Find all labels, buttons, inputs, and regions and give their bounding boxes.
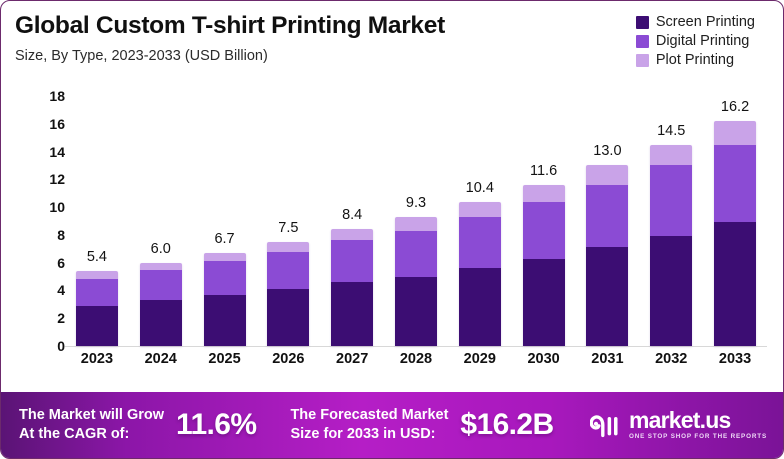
y-axis-tick: 0 [57,338,65,354]
legend-swatch-icon [636,54,649,67]
bar-segment[interactable] [650,165,692,236]
forecast-label: The Forecasted Market Size for 2033 in U… [290,406,448,443]
legend-label: Plot Printing [656,52,734,68]
bar-total-label: 6.7 [193,231,257,247]
y-axis-tick: 10 [49,199,65,215]
bar-stack[interactable] [140,263,182,346]
x-axis-tick: 2027 [320,351,384,379]
bar-total-label: 7.5 [256,220,320,236]
x-axis-tick: 2025 [193,351,257,379]
y-axis-tick: 8 [57,227,65,243]
bar-segment[interactable] [714,222,756,346]
bar-total-label: 5.4 [65,249,129,265]
bar-column[interactable]: 13.0 [576,96,640,346]
bar-segment[interactable] [395,277,437,346]
infographic-card: Global Custom T-shirt Printing Market Si… [0,0,784,459]
bar-segment[interactable] [523,259,565,347]
forecast-value: $16.2B [460,408,553,442]
bar-segment[interactable] [714,145,756,223]
x-axis-tick: 2033 [703,351,767,379]
cagr-label-line2: At the CAGR of: [19,425,164,444]
logo-name: market.us [629,409,767,432]
bar-segment[interactable] [76,306,118,346]
legend-label: Screen Printing [656,14,755,30]
y-axis-tick: 12 [49,171,65,187]
forecast-label-line2: Size for 2033 in USD: [290,425,448,444]
x-axis-tick: 2023 [65,351,129,379]
bar-total-label: 11.6 [512,163,576,179]
bar-total-label: 9.3 [384,195,448,211]
legend-item-plot-printing: Plot Printing [636,52,755,68]
bar-stack[interactable] [204,253,246,346]
bar-stack[interactable] [331,229,373,346]
cagr-label: The Market will Grow At the CAGR of: [19,406,164,443]
bar-segment[interactable] [76,271,118,279]
y-axis-tick: 14 [49,144,65,160]
bar-series-container: 5.46.06.77.58.49.310.411.613.014.516.2 [65,96,767,346]
bar-segment[interactable] [140,263,182,270]
bar-column[interactable]: 5.4 [65,96,129,346]
y-axis-tick: 4 [57,282,65,298]
bar-segment[interactable] [395,217,437,231]
bar-segment[interactable] [650,236,692,346]
legend-swatch-icon [636,16,649,29]
y-axis-tick: 18 [49,88,65,104]
y-axis-tick: 16 [49,116,65,132]
bar-segment[interactable] [395,231,437,277]
x-axis: 2023202420252026202720282029203020312032… [65,351,767,379]
bar-stack[interactable] [76,271,118,346]
x-axis-tick: 2030 [512,351,576,379]
legend-label: Digital Printing [656,33,750,49]
x-axis-tick: 2024 [129,351,193,379]
legend-item-digital-printing: Digital Printing [636,33,755,49]
x-axis-tick: 2029 [448,351,512,379]
forecast-label-line1: The Forecasted Market [290,406,448,425]
bar-segment[interactable] [140,300,182,346]
bar-stack[interactable] [395,217,437,346]
bar-column[interactable]: 8.4 [320,96,384,346]
bar-segment[interactable] [714,121,756,145]
bar-total-label: 8.4 [320,207,384,223]
x-axis-tick: 2031 [576,351,640,379]
x-axis-tick: 2026 [256,351,320,379]
bar-segment[interactable] [459,202,501,217]
bar-segment[interactable] [204,253,246,261]
bar-segment[interactable] [204,295,246,346]
cagr-value: 11.6% [176,408,256,442]
x-axis-tick: 2032 [639,351,703,379]
bar-segment[interactable] [267,289,309,346]
bar-segment[interactable] [459,217,501,268]
bar-segment[interactable] [650,145,692,166]
bar-segment[interactable] [586,185,628,248]
bar-stack[interactable] [586,165,628,346]
bar-segment[interactable] [204,261,246,294]
legend-swatch-icon [636,35,649,48]
logo-tagline: ONE STOP SHOP FOR THE REPORTS [629,434,767,440]
x-axis-tick: 2028 [384,351,448,379]
cagr-label-line1: The Market will Grow [19,406,164,425]
bar-segment[interactable] [523,185,565,202]
bar-segment[interactable] [459,268,501,346]
bar-total-label: 13.0 [576,143,640,159]
y-axis: 181614121086420 [25,96,65,351]
bar-column[interactable]: 16.2 [703,96,767,346]
bar-segment[interactable] [76,279,118,305]
market-us-logo-icon [590,412,622,438]
bar-total-label: 16.2 [703,99,767,115]
logo-wordmark: market.us ONE STOP SHOP FOR THE REPORTS [629,409,767,440]
bar-column[interactable]: 11.6 [512,96,576,346]
bar-column[interactable]: 14.5 [639,96,703,346]
bar-segment[interactable] [331,282,373,346]
chart-legend: Screen Printing Digital Printing Plot Pr… [636,14,755,68]
chart-plot-area: 181614121086420 5.46.06.77.58.49.310.411… [1,96,784,391]
y-axis-tick: 6 [57,255,65,271]
bar-stack[interactable] [459,202,501,346]
bar-column[interactable]: 7.5 [256,96,320,346]
bar-total-label: 14.5 [639,123,703,139]
bar-segment[interactable] [586,247,628,346]
footer-banner: The Market will Grow At the CAGR of: 11.… [1,392,784,458]
bar-column[interactable]: 9.3 [384,96,448,346]
bar-segment[interactable] [267,242,309,252]
bar-stack[interactable] [523,185,565,346]
bar-stack[interactable] [650,145,692,346]
brand-logo[interactable]: market.us ONE STOP SHOP FOR THE REPORTS [590,409,767,440]
bar-segment[interactable] [267,252,309,290]
bar-column[interactable]: 10.4 [448,96,512,346]
bar-total-label: 6.0 [129,241,193,257]
bar-stack[interactable] [714,121,756,346]
y-axis-tick: 2 [57,310,65,326]
legend-item-screen-printing: Screen Printing [636,14,755,30]
bar-segment[interactable] [140,270,182,301]
bar-segment[interactable] [523,202,565,259]
bar-segment[interactable] [331,240,373,282]
bar-segment[interactable] [331,229,373,240]
bar-column[interactable]: 6.7 [193,96,257,346]
bar-total-label: 10.4 [448,180,512,196]
bar-stack[interactable] [267,242,309,346]
x-axis-baseline [65,346,767,347]
bar-column[interactable]: 6.0 [129,96,193,346]
bar-segment[interactable] [586,165,628,184]
